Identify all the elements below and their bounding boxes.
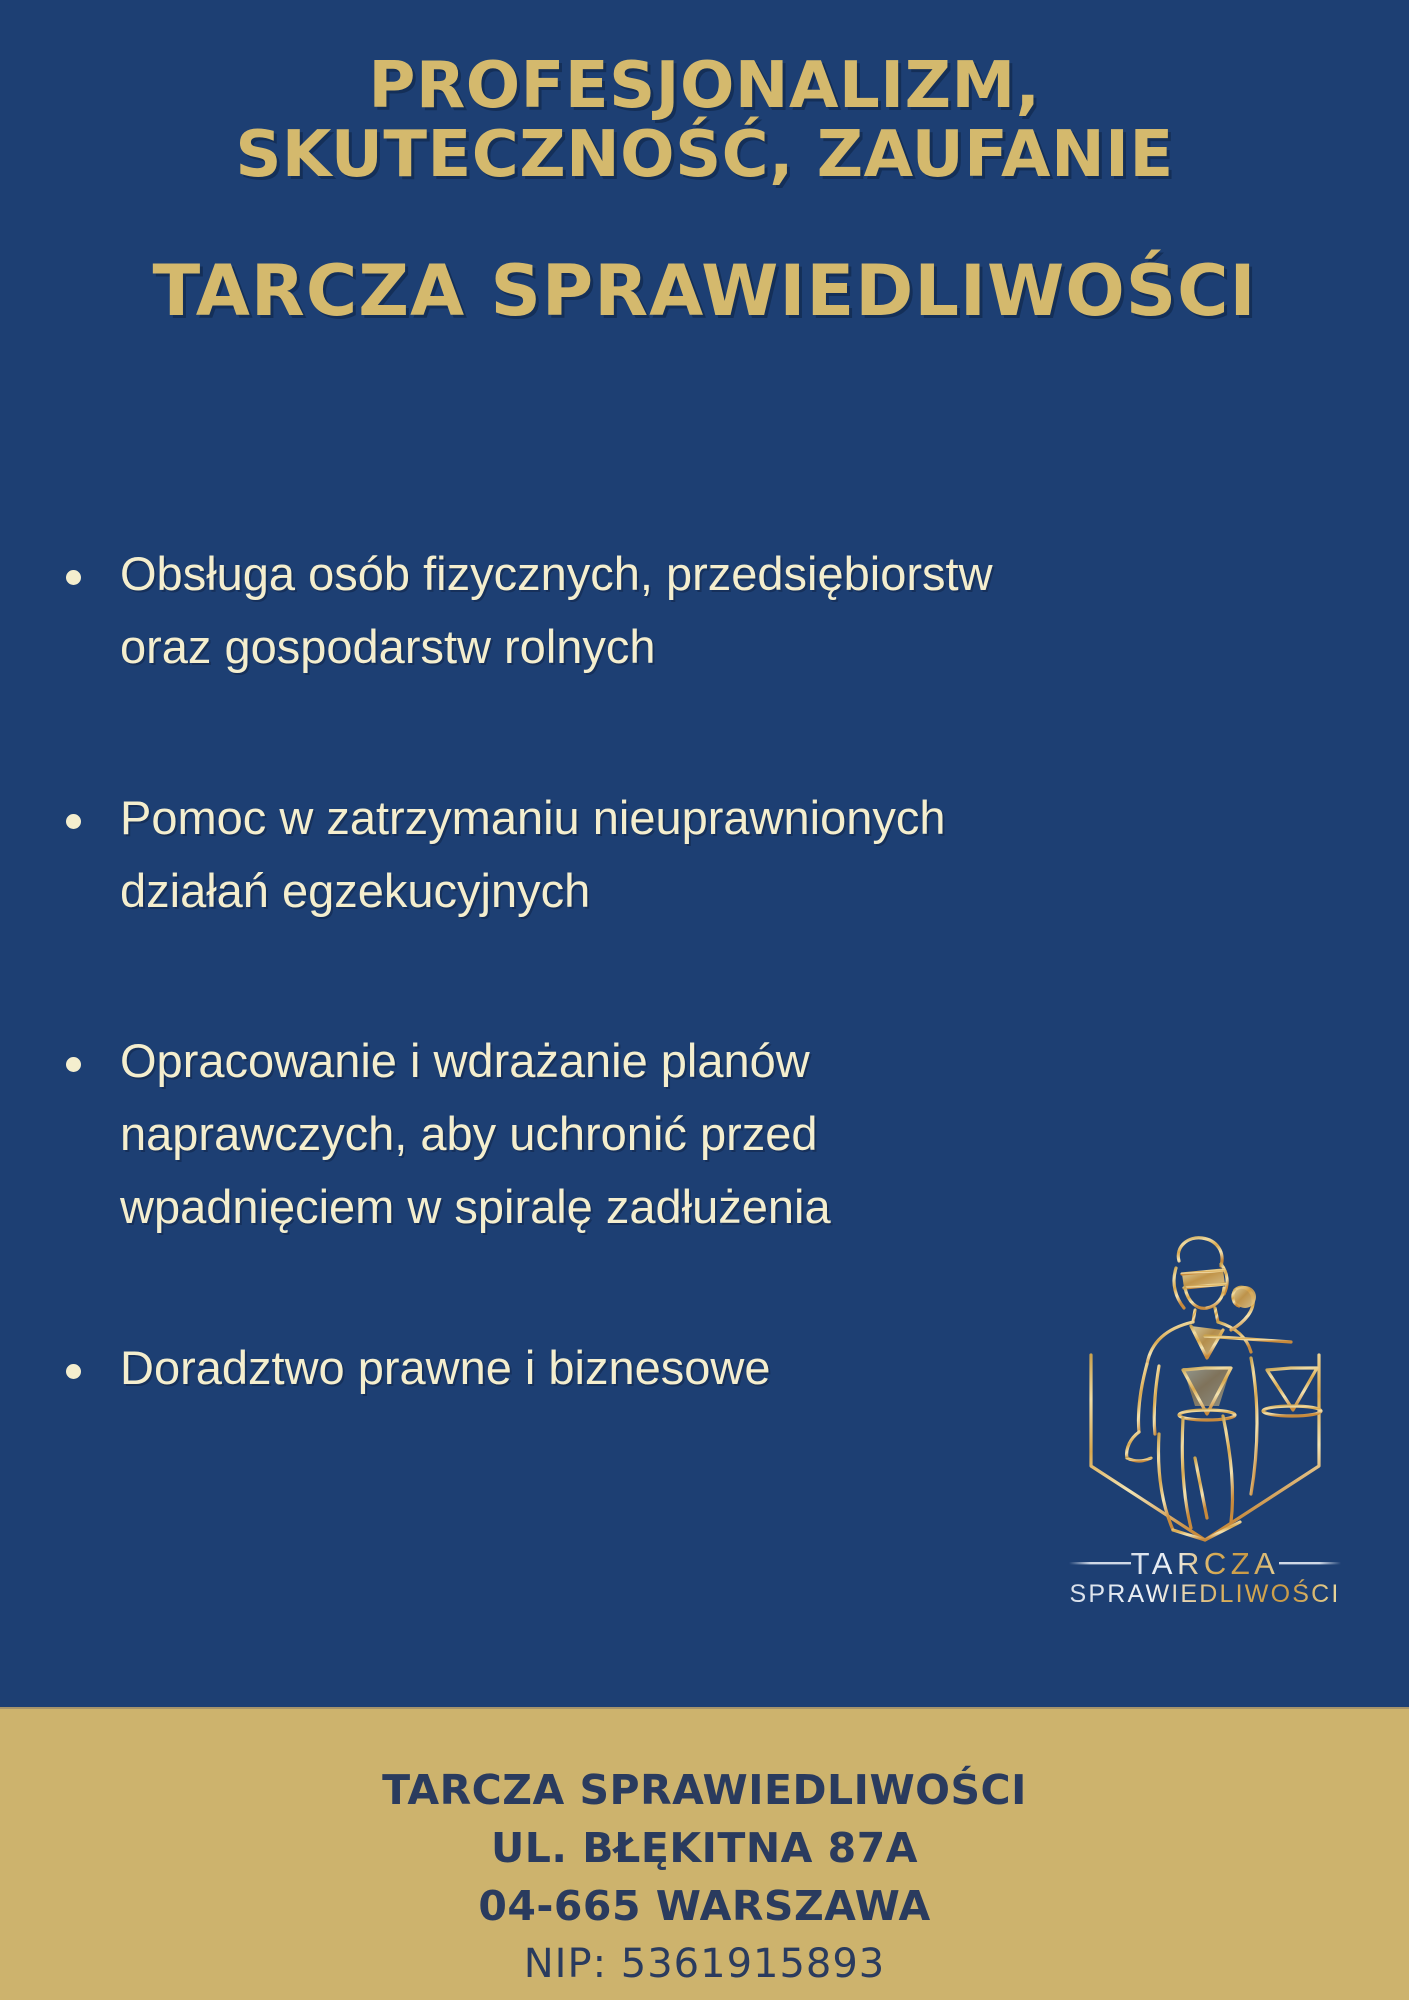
logo-rule-left <box>1069 1562 1131 1564</box>
bullet-dot-icon <box>66 570 81 585</box>
footer-company-name: TARCZA SPRAWIEDLIWOŚCI <box>0 1761 1409 1819</box>
bullet-dot-icon <box>66 1057 81 1072</box>
brand-title-wrap: TARCZA SPRAWIEDLIWOŚCI <box>0 255 1409 329</box>
services-list: Obsługa osób fizycznych, przedsiębiorstw… <box>48 538 1058 1405</box>
tagline-line-1: PROFESJONALIZM, <box>0 52 1409 121</box>
footer-lines: TARCZA SPRAWIEDLIWOŚCI UL. BŁĘKITNA 87A … <box>0 1709 1409 1992</box>
footer-contact-band: TARCZA SPRAWIEDLIWOŚCI UL. BŁĘKITNA 87A … <box>0 1707 1409 2000</box>
footer-city-postal: 04-665 WARSZAWA <box>0 1877 1409 1935</box>
logo-word-sprawiedliwosci-svg: SPRAWIEDLIWOŚCI <box>1055 1574 1355 1618</box>
logo-rule-right <box>1279 1562 1341 1564</box>
list-item: Opracowanie i wdrażanie planów naprawczy… <box>48 1025 1058 1244</box>
tagline-line-2: SKUTECZNOŚĆ, ZAUFANIE <box>0 121 1409 190</box>
footer-nip: NIP: 5361915893 <box>0 1936 1409 1993</box>
logo-word-tarcza: TARCZA <box>1131 1546 1280 1578</box>
list-item-label: Pomoc w zatrzymaniu nieuprawnionych dzia… <box>120 782 1058 928</box>
bullet-dot-icon <box>66 1364 81 1379</box>
list-item: Pomoc w zatrzymaniu nieuprawnionych dzia… <box>48 782 1058 928</box>
footer-street-address: UL. BŁĘKITNA 87A <box>0 1819 1409 1877</box>
poster-root: PROFESJONALIZM, SKUTECZNOŚĆ, ZAUFANIE TA… <box>0 0 1409 2000</box>
bullet-dot-icon <box>66 814 81 829</box>
list-item-label: Obsługa osób fizycznych, przedsiębiorstw… <box>120 538 1058 684</box>
list-item: Obsługa osób fizycznych, przedsiębiorstw… <box>48 538 1058 684</box>
list-item: Doradztwo prawne i biznesowe <box>48 1332 1058 1405</box>
brand-title: TARCZA SPRAWIEDLIWOŚCI <box>0 255 1409 329</box>
lady-justice-shield-icon: TARCZA <box>1055 1218 1355 1578</box>
list-item-label: Doradztwo prawne i biznesowe <box>120 1332 1058 1405</box>
logo-word-sprawiedliwosci: SPRAWIEDLIWOŚCI <box>1070 1578 1341 1608</box>
blue-content-panel: PROFESJONALIZM, SKUTECZNOŚĆ, ZAUFANIE TA… <box>0 0 1409 1707</box>
headline-block: PROFESJONALIZM, SKUTECZNOŚĆ, ZAUFANIE <box>0 52 1409 190</box>
company-logo: TARCZA SPRAWIEDLIWOŚCI <box>1055 1218 1355 1648</box>
list-item-label: Opracowanie i wdrażanie planów naprawczy… <box>120 1025 1058 1244</box>
